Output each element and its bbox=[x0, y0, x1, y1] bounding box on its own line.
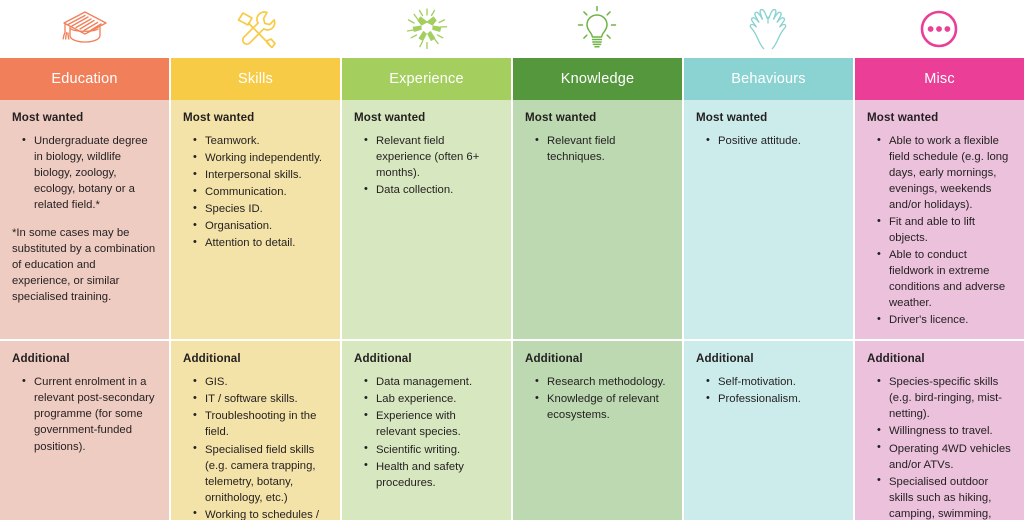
list-item: Specialised field skills (e.g. camera tr… bbox=[193, 442, 328, 506]
section-title: Additional bbox=[525, 352, 670, 365]
icon-strip bbox=[0, 0, 1024, 58]
additional-cell-behaviours: Additional Self-motivation.Professionali… bbox=[684, 341, 853, 520]
additional-cell-misc: Additional Species-specific skills (e.g.… bbox=[855, 341, 1024, 520]
section-title: Most wanted bbox=[12, 111, 157, 124]
open-hands-icon bbox=[743, 6, 793, 52]
additional-list: Current enrolment in a relevant post-sec… bbox=[22, 374, 157, 454]
icon-cell-experience bbox=[341, 0, 512, 58]
most-wanted-cell-misc: Most wanted Able to work a flexible fiel… bbox=[855, 100, 1024, 339]
hammer-wrench-icon bbox=[231, 6, 281, 52]
list-item: Organisation. bbox=[193, 218, 328, 234]
column-header-label: Behaviours bbox=[731, 71, 806, 87]
list-item: Troubleshooting in the field. bbox=[193, 408, 328, 440]
most-wanted-cell-experience: Most wanted Relevant field experience (o… bbox=[342, 100, 511, 339]
list-item: Lab experience. bbox=[364, 391, 499, 407]
additional-list: Self-motivation.Professionalism. bbox=[706, 374, 841, 407]
column-header-misc[interactable]: Misc bbox=[855, 58, 1024, 100]
icon-cell-skills bbox=[171, 0, 342, 58]
helping-hands-burst-icon bbox=[401, 5, 453, 53]
ellipsis-circle-icon bbox=[915, 5, 963, 53]
lightbulb-icon bbox=[573, 5, 621, 53]
list-item: Able to conduct fieldwork in extreme con… bbox=[877, 247, 1012, 311]
list-item: Able to work a flexible field schedule (… bbox=[877, 133, 1012, 213]
list-item: Professionalism. bbox=[706, 391, 841, 407]
list-item: Self-motivation. bbox=[706, 374, 841, 390]
icon-cell-knowledge bbox=[512, 0, 683, 58]
section-title: Additional bbox=[12, 352, 157, 365]
column-header-label: Education bbox=[51, 71, 117, 87]
list-item: Willingness to travel. bbox=[877, 423, 1012, 439]
list-item: Experience with relevant species. bbox=[364, 408, 499, 440]
icon-cell-education bbox=[0, 0, 171, 58]
list-item: Teamwork. bbox=[193, 133, 328, 149]
most-wanted-list: Positive attitude. bbox=[706, 133, 841, 149]
most-wanted-list: Relevant field experience (often 6+ mont… bbox=[364, 133, 499, 198]
most-wanted-list: Teamwork.Working independently.Interpers… bbox=[193, 133, 328, 251]
section-title: Additional bbox=[183, 352, 328, 365]
column-header-label: Experience bbox=[389, 71, 464, 87]
column-header-education[interactable]: Education bbox=[0, 58, 169, 100]
list-item: Specialised outdoor skills such as hikin… bbox=[877, 474, 1012, 520]
additional-list: Data management.Lab experience.Experienc… bbox=[364, 374, 499, 490]
additional-cell-education: Additional Current enrolment in a releva… bbox=[0, 341, 169, 520]
list-item: Fit and able to lift objects. bbox=[877, 214, 1012, 246]
additional-cell-knowledge: Additional Research methodology.Knowledg… bbox=[513, 341, 682, 520]
section-title: Most wanted bbox=[183, 111, 328, 124]
list-item: GIS. bbox=[193, 374, 328, 390]
most-wanted-cell-skills: Most wanted Teamwork.Working independent… bbox=[171, 100, 340, 339]
list-item: Scientific writing. bbox=[364, 442, 499, 458]
most-wanted-list: Able to work a flexible field schedule (… bbox=[877, 133, 1012, 328]
list-item: Knowledge of relevant ecosystems. bbox=[535, 391, 670, 423]
most-wanted-cell-knowledge: Most wanted Relevant field techniques. bbox=[513, 100, 682, 339]
list-item: Data management. bbox=[364, 374, 499, 390]
list-item: Species ID. bbox=[193, 201, 328, 217]
section-title: Additional bbox=[354, 352, 499, 365]
list-item: Research methodology. bbox=[535, 374, 670, 390]
section-title: Additional bbox=[867, 352, 1012, 365]
list-item: Undergraduate degree in biology, wildlif… bbox=[22, 133, 157, 213]
additional-list: Research methodology.Knowledge of releva… bbox=[535, 374, 670, 423]
additional-list: Species-specific skills (e.g. bird-ringi… bbox=[877, 374, 1012, 520]
section-title: Additional bbox=[696, 352, 841, 365]
icon-cell-behaviours bbox=[683, 0, 854, 58]
most-wanted-list: Relevant field techniques. bbox=[535, 133, 670, 165]
list-item: Attention to detail. bbox=[193, 235, 328, 251]
list-item: Health and safety procedures. bbox=[364, 459, 499, 491]
list-item: Species-specific skills (e.g. bird-ringi… bbox=[877, 374, 1012, 422]
column-header-label: Knowledge bbox=[561, 71, 635, 87]
additional-cell-experience: Additional Data management.Lab experienc… bbox=[342, 341, 511, 520]
most-wanted-list: Undergraduate degree in biology, wildlif… bbox=[22, 133, 157, 213]
column-header-label: Misc bbox=[924, 71, 955, 87]
list-item: Working independently. bbox=[193, 150, 328, 166]
list-item: Relevant field experience (often 6+ mont… bbox=[364, 133, 499, 181]
list-item: Current enrolment in a relevant post-sec… bbox=[22, 374, 157, 454]
icon-cell-misc bbox=[853, 0, 1024, 58]
section-title: Most wanted bbox=[525, 111, 670, 124]
additional-cell-skills: Additional GIS.IT / software skills.Trou… bbox=[171, 341, 340, 520]
list-item: IT / software skills. bbox=[193, 391, 328, 407]
column-header-label: Skills bbox=[238, 71, 273, 87]
footnote: *In some cases may be substituted by a c… bbox=[12, 225, 157, 305]
section-title: Most wanted bbox=[867, 111, 1012, 124]
list-item: Communication. bbox=[193, 184, 328, 200]
list-item: Driver's licence. bbox=[877, 312, 1012, 328]
list-item: Positive attitude. bbox=[706, 133, 841, 149]
graduation-cap-icon bbox=[58, 7, 112, 51]
section-title: Most wanted bbox=[354, 111, 499, 124]
column-header-experience[interactable]: Experience bbox=[342, 58, 511, 100]
most-wanted-cell-education: Most wanted Undergraduate degree in biol… bbox=[0, 100, 169, 339]
column-header-skills[interactable]: Skills bbox=[171, 58, 340, 100]
list-item: Operating 4WD vehicles and/or ATVs. bbox=[877, 441, 1012, 473]
list-item: Interpersonal skills. bbox=[193, 167, 328, 183]
list-item: Data collection. bbox=[364, 182, 499, 198]
most-wanted-row: Most wanted Undergraduate degree in biol… bbox=[0, 100, 1024, 339]
column-header-behaviours[interactable]: Behaviours bbox=[684, 58, 853, 100]
additional-row: Additional Current enrolment in a releva… bbox=[0, 341, 1024, 520]
column-header-row: Education Skills Experience Knowledge Be… bbox=[0, 58, 1024, 100]
list-item: Relevant field techniques. bbox=[535, 133, 670, 165]
skills-matrix-table: Education Skills Experience Knowledge Be… bbox=[0, 0, 1024, 520]
additional-list: GIS.IT / software skills.Troubleshooting… bbox=[193, 374, 328, 520]
list-item: Working to schedules / deadlines. bbox=[193, 507, 328, 520]
column-header-knowledge[interactable]: Knowledge bbox=[513, 58, 682, 100]
section-title: Most wanted bbox=[696, 111, 841, 124]
most-wanted-cell-behaviours: Most wanted Positive attitude. bbox=[684, 100, 853, 339]
